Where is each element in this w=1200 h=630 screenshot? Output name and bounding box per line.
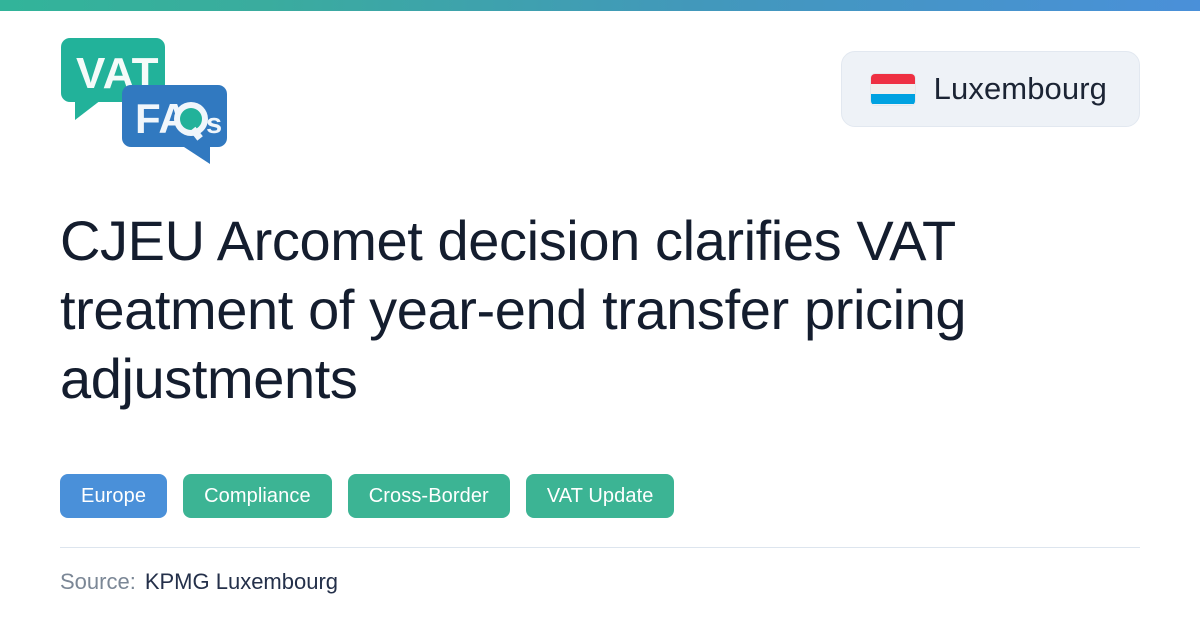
country-badge[interactable]: Luxembourg [841, 51, 1140, 127]
vat-faqs-logo[interactable]: VAT FA s [60, 36, 228, 164]
article-share-card: VAT FA s Luxembourg [0, 0, 1200, 630]
tag-europe[interactable]: Europe [60, 474, 167, 518]
luxembourg-flag-icon [871, 74, 915, 105]
source-label: Source: [60, 569, 136, 595]
source-line: Source: KPMG Luxembourg [60, 569, 1140, 595]
country-name: Luxembourg [934, 71, 1107, 107]
top-gradient-bar [0, 0, 1200, 11]
tag-cross-border[interactable]: Cross-Border [348, 474, 510, 518]
svg-text:s: s [206, 108, 222, 140]
source-value: KPMG Luxembourg [145, 569, 338, 595]
logo-bottom-bubble-icon: FA s [122, 85, 227, 164]
tag-compliance[interactable]: Compliance [183, 474, 332, 518]
card-header: VAT FA s Luxembourg [0, 11, 1200, 176]
card-body: CJEU Arcomet decision clarifies VAT trea… [0, 176, 1200, 595]
article-headline: CJEU Arcomet decision clarifies VAT trea… [60, 206, 1120, 413]
tag-list: Europe Compliance Cross-Border VAT Updat… [60, 474, 1140, 518]
footer-divider [60, 547, 1140, 548]
tag-vat-update[interactable]: VAT Update [526, 474, 675, 518]
